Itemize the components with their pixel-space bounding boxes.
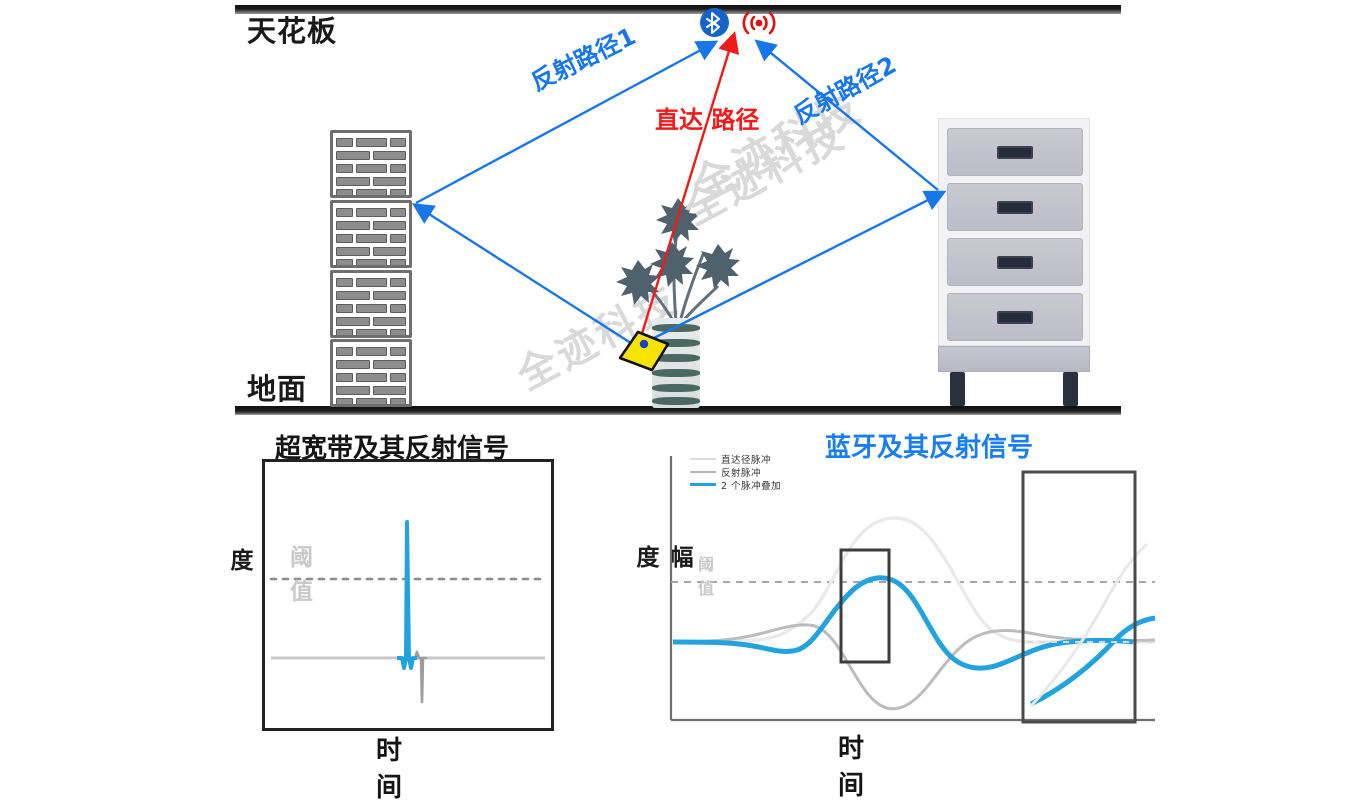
chart-bluetooth-threshold-label: 阈值: [698, 551, 714, 599]
combined-pulse: [397, 522, 417, 668]
rf-signal-icon: [733, 8, 785, 38]
direct-path: [640, 38, 733, 340]
bluetooth-icon: [700, 8, 729, 37]
direct-path-label: 直达 路径: [655, 100, 759, 135]
legend-label-reflected: 反射脉冲: [721, 465, 761, 479]
chart-bluetooth-xlabel: 时间: [838, 728, 864, 802]
legend-item: 2 个脉冲叠加: [690, 478, 781, 491]
direct-path-pulse: [673, 518, 1155, 642]
signal-paths: [0, 0, 1360, 420]
reflect-path-1-leg-a: [418, 207, 634, 345]
legend-item: 反射脉冲: [690, 465, 781, 478]
chart-uwb-xlabel: 时间: [376, 730, 402, 804]
combined-pulse: [673, 578, 1133, 668]
room-scene: 天花板 地面 全迹科技 全迹科技: [0, 0, 1360, 420]
reflect-path-2-leg-a: [644, 194, 940, 343]
chart-bluetooth-plot-area: [663, 452, 1160, 732]
legend-swatch-reflected: [690, 471, 716, 473]
legend-swatch-combined: [690, 483, 716, 486]
zoom-selection-box: [841, 550, 889, 662]
legend-item: 直达径脉冲: [690, 452, 781, 465]
bluetooth-anchor-node: [700, 6, 790, 40]
zoom-detail-box: [1023, 472, 1135, 722]
diagram-canvas: 天花板 地面 全迹科技 全迹科技: [0, 0, 1360, 760]
chart-bluetooth-legend: 直达径脉冲 反射脉冲 2 个脉冲叠加: [690, 452, 781, 491]
chart-uwb-threshold-label: 阈值: [290, 538, 313, 606]
chart-bluetooth-svg: [663, 452, 1160, 732]
legend-label-direct: 直达径脉冲: [721, 452, 771, 466]
legend-label-combined: 2 个脉冲叠加: [721, 478, 781, 492]
bluetooth-tag: [612, 330, 672, 372]
legend-swatch-direct: [690, 458, 716, 460]
